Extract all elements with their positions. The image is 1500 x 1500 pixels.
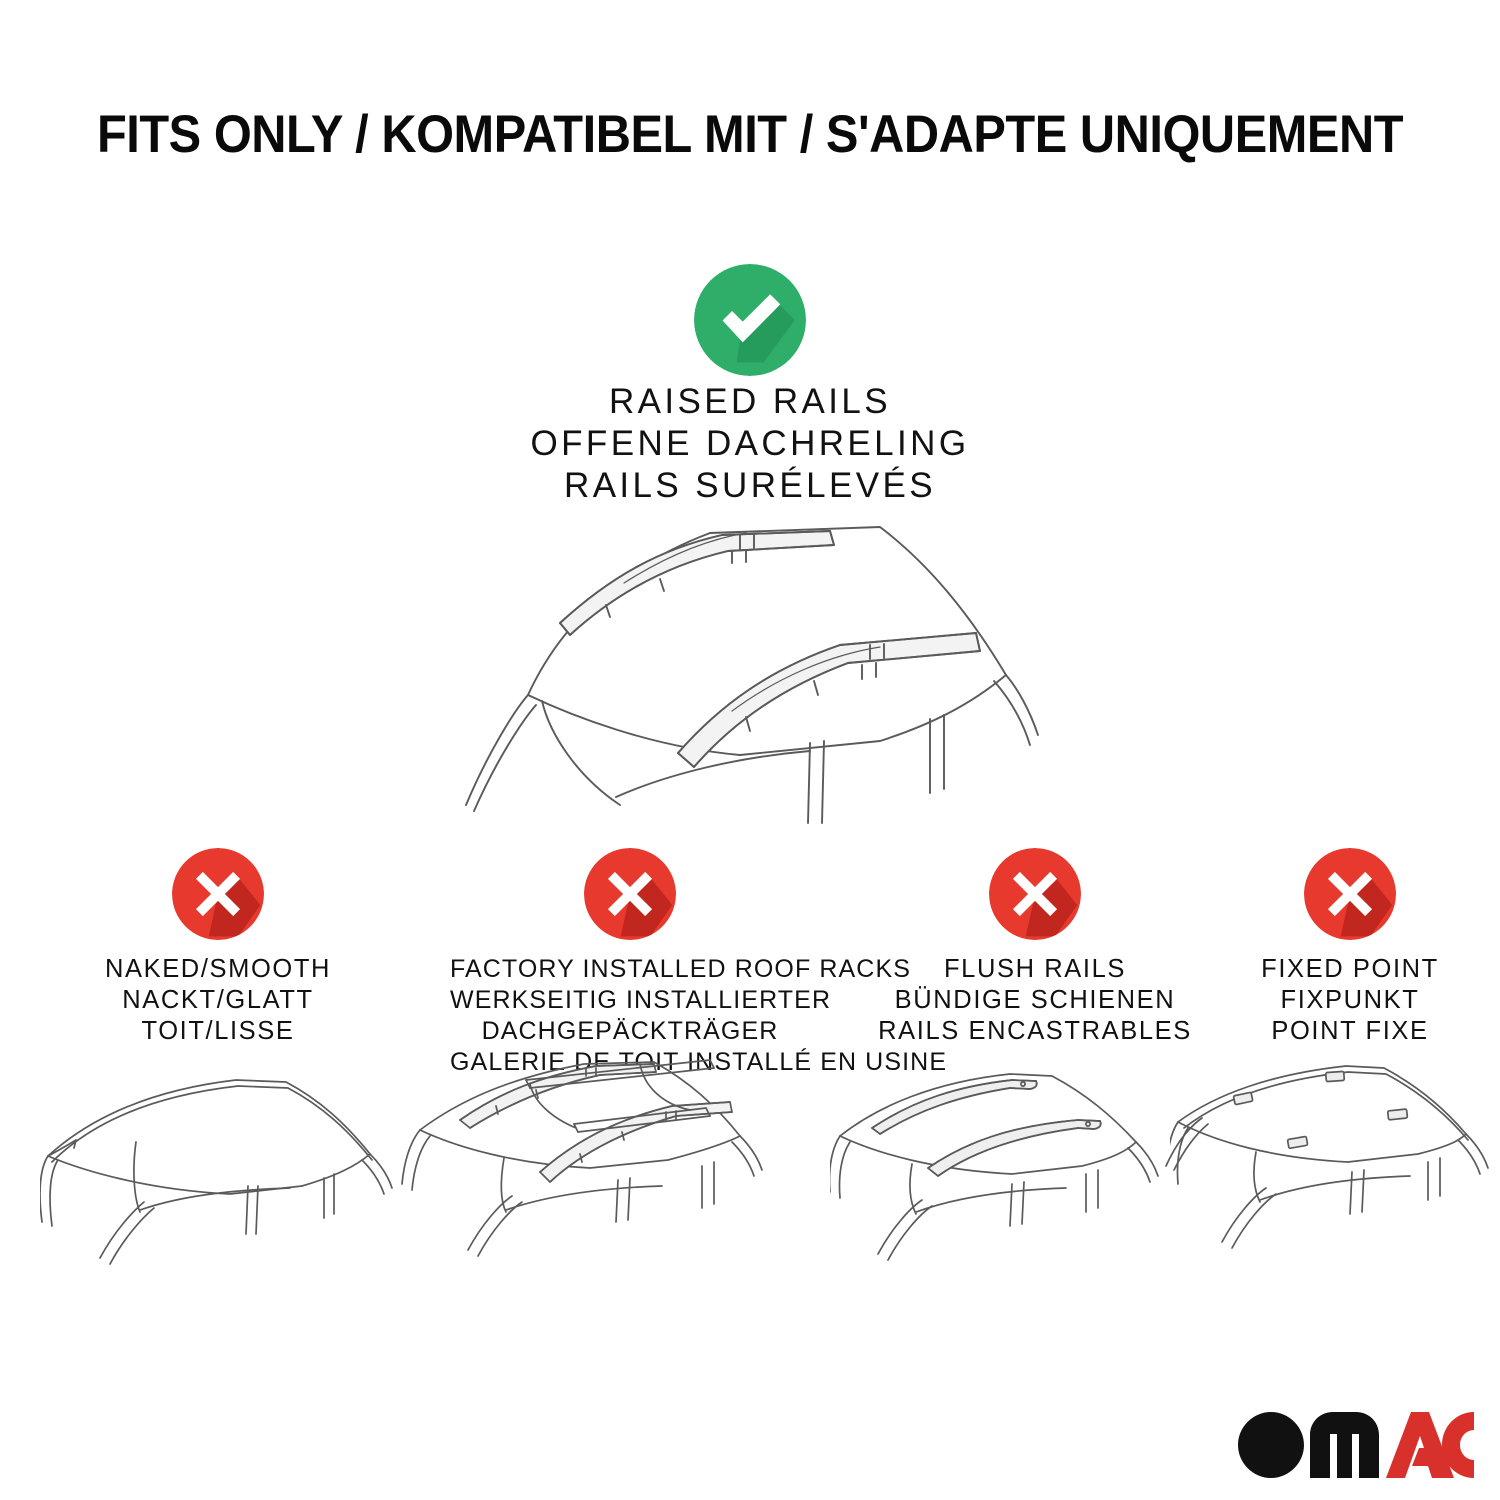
x-circle-icon (989, 848, 1081, 940)
incompatible-label-line-3: POINT FIXE (1170, 1016, 1500, 1047)
incompatible-label-line-3: DACHGEPÄCKTRÄGER (450, 1016, 810, 1047)
compatible-label: RAISED RAILS OFFENE DACHRELING RAILS SUR… (0, 381, 1500, 507)
incompatible-label-line-2: NACKT/GLATT (38, 985, 398, 1016)
incompatible-label: FIXED POINT FIXPUNKT POINT FIXE (1170, 954, 1500, 1047)
incompatible-label-line-1: FIXED POINT (1170, 954, 1500, 985)
car-roof-factory-roof-racks-illustration (400, 1058, 780, 1308)
car-roof-with-raised-rails-illustration (410, 505, 1100, 825)
incompatible-label-line-2: FIXPUNKT (1170, 985, 1500, 1016)
incompatible-label: FLUSH RAILS BÜNDIGE SCHIENEN RAILS ENCAS… (855, 954, 1215, 1047)
incompatible-label: NAKED/SMOOTH NACKT/GLATT TOIT/LISSE (38, 954, 398, 1047)
incompatible-item-naked-smooth: NAKED/SMOOTH NACKT/GLATT TOIT/LISSE (38, 848, 398, 1047)
fitment-chart-page: FITS ONLY / KOMPATIBEL MIT / S'ADAPTE UN… (0, 0, 1500, 1500)
compatible-label-line-1: RAISED RAILS (0, 381, 1500, 423)
car-roof-fixed-point-illustration (1170, 1060, 1500, 1310)
check-circle-icon (694, 264, 806, 376)
incompatible-label-line-1: NAKED/SMOOTH (38, 954, 398, 985)
incompatible-label-line-1: FACTORY INSTALLED ROOF RACKS (450, 954, 810, 985)
incompatible-label-line-2: BÜNDIGE SCHIENEN (855, 985, 1215, 1016)
x-circle-icon (584, 848, 676, 940)
x-circle-icon (172, 848, 264, 940)
car-roof-naked-smooth-illustration (40, 1062, 400, 1312)
incompatible-label-line-2: WERKSEITIG INSTALLIERTER (450, 985, 810, 1016)
omac-logo (1238, 1412, 1474, 1478)
incompatible-label-line-3: TOIT/LISSE (38, 1016, 398, 1047)
compatible-label-line-2: OFFENE DACHRELING (0, 423, 1500, 465)
x-circle-icon (1304, 848, 1396, 940)
car-roof-flush-rails-illustration (830, 1058, 1210, 1308)
incompatible-item-fixed-point: FIXED POINT FIXPUNKT POINT FIXE (1170, 848, 1500, 1047)
page-title: FITS ONLY / KOMPATIBEL MIT / S'ADAPTE UN… (60, 104, 1440, 165)
incompatible-item-factory-roof-racks: FACTORY INSTALLED ROOF RACKS WERKSEITIG … (450, 848, 810, 1078)
incompatible-item-flush-rails: FLUSH RAILS BÜNDIGE SCHIENEN RAILS ENCAS… (855, 848, 1215, 1047)
incompatible-label-line-3: RAILS ENCASTRABLES (855, 1016, 1215, 1047)
compatible-label-line-3: RAILS SURÉLEVÉS (0, 465, 1500, 507)
incompatible-label-line-1: FLUSH RAILS (855, 954, 1215, 985)
